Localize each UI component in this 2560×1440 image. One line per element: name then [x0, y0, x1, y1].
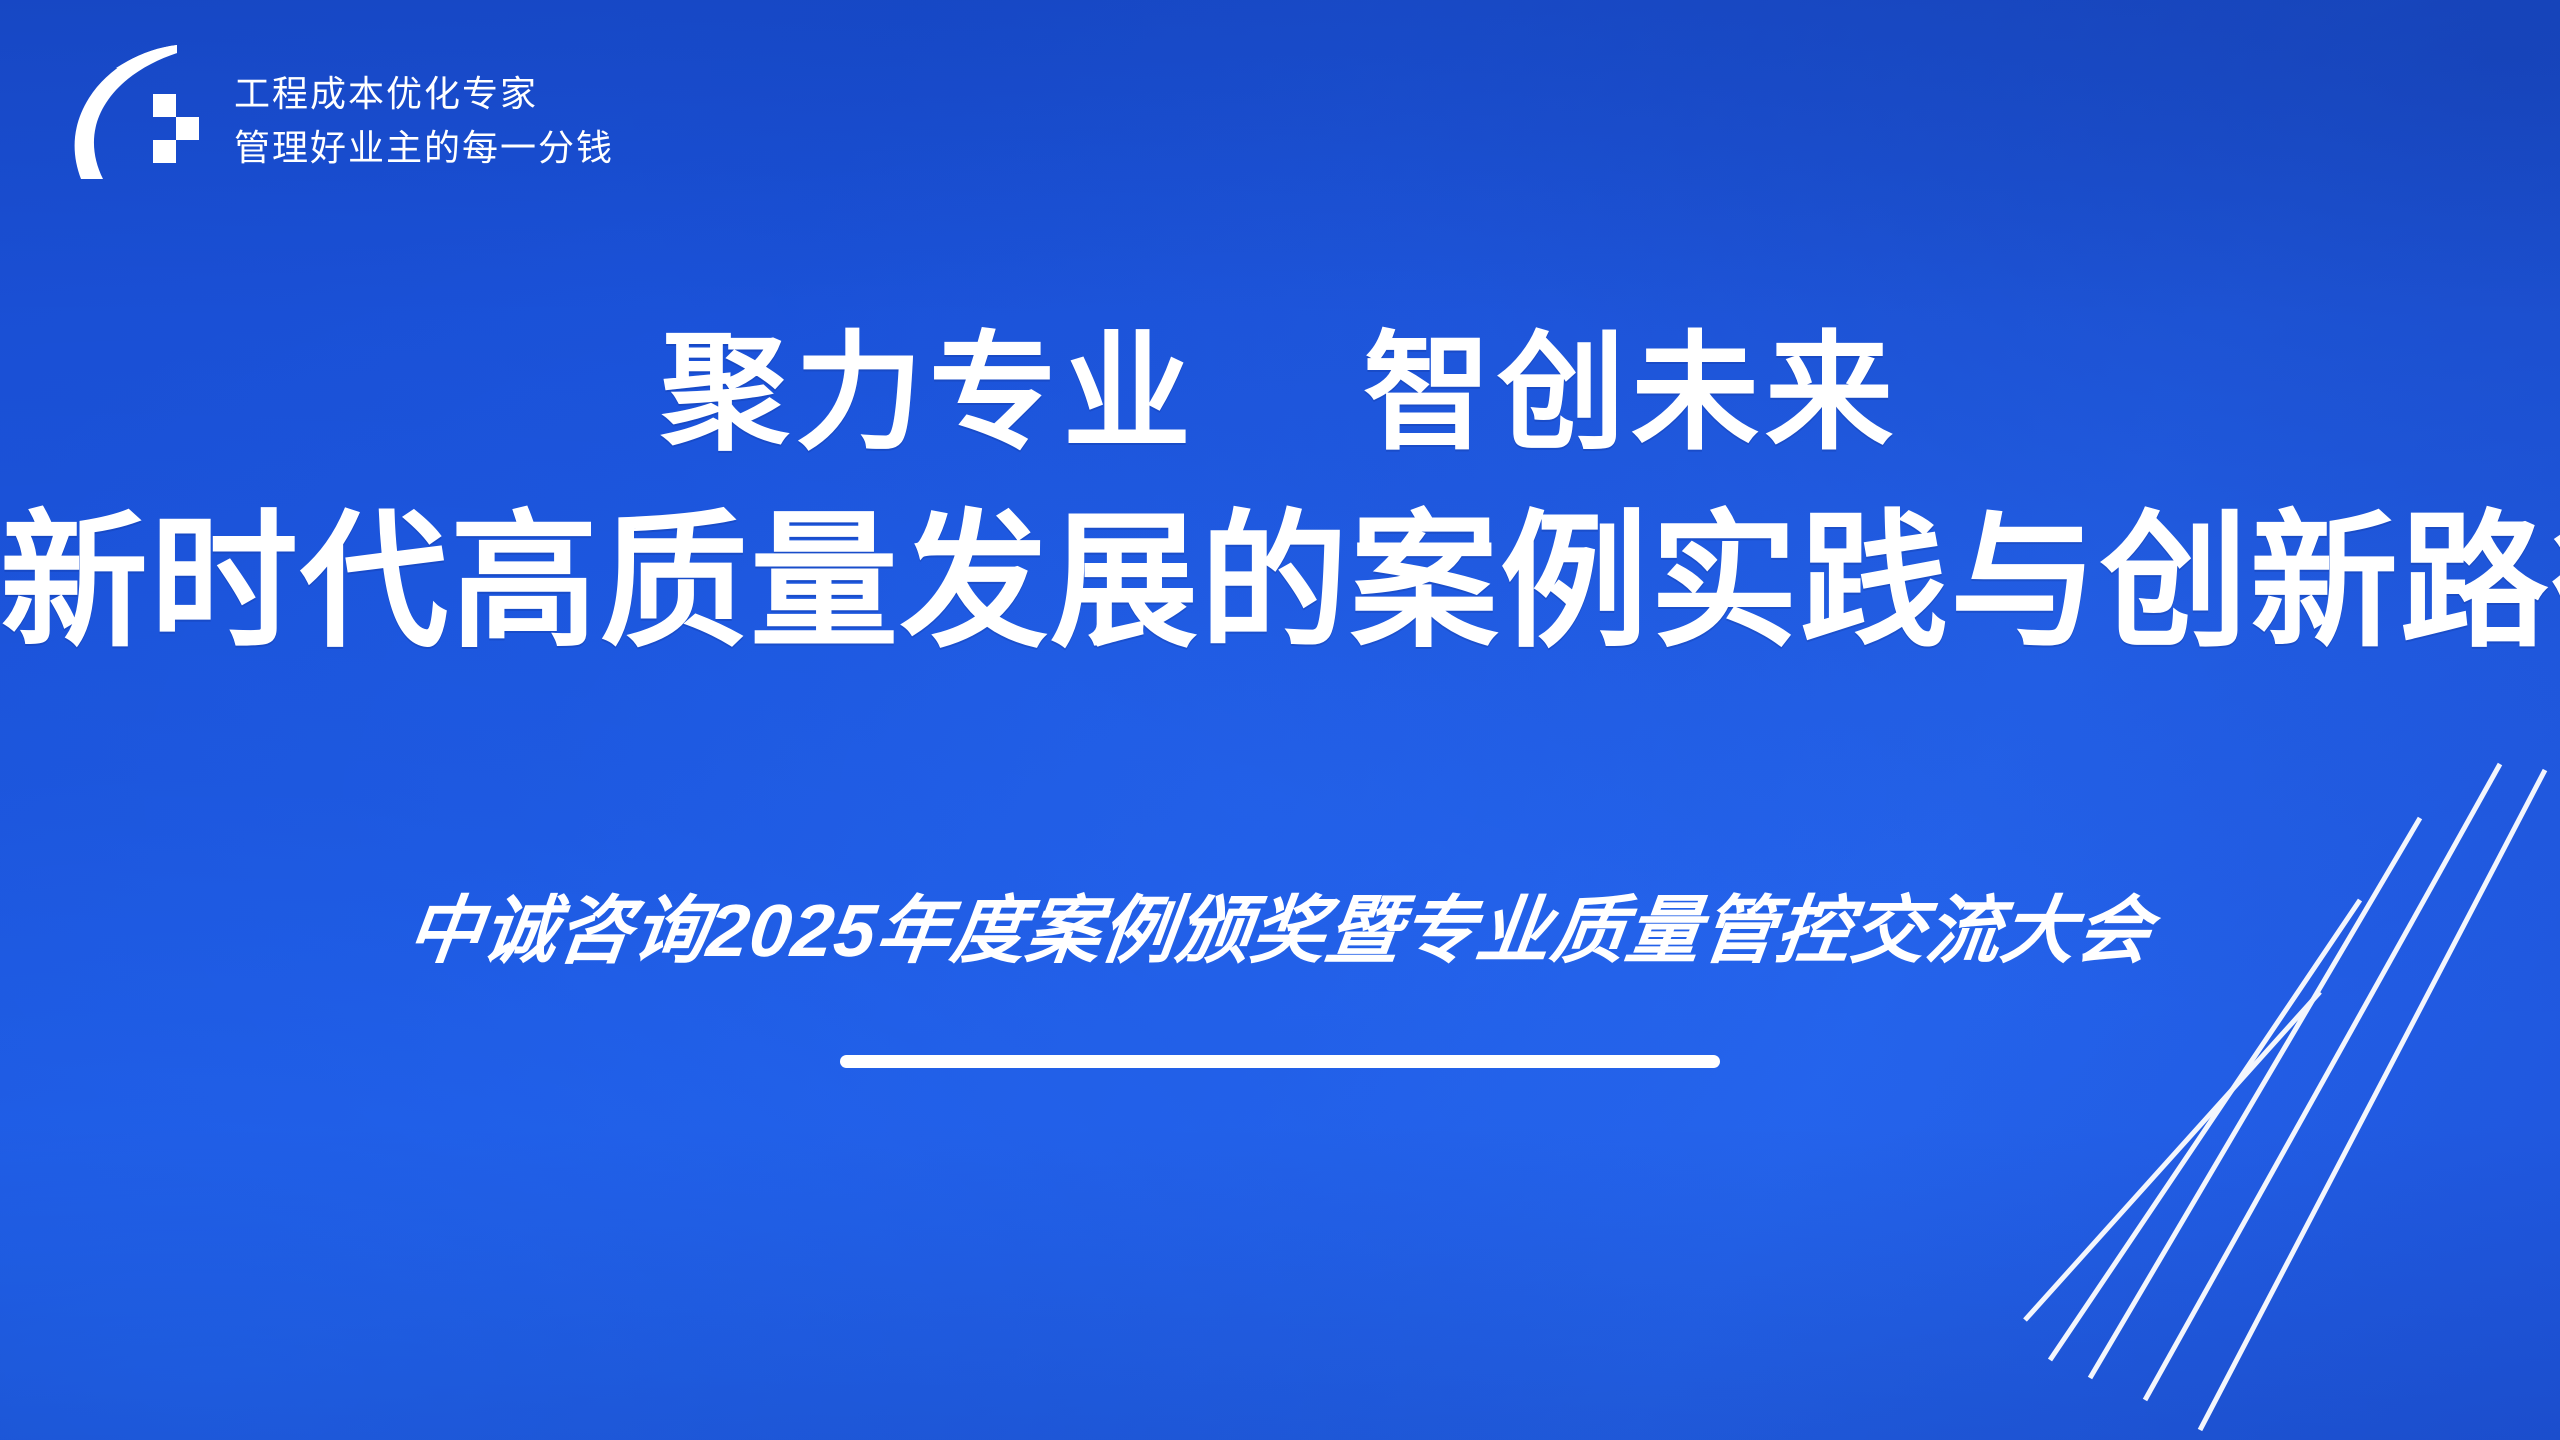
subtitle-block: 中诚咨询2025年度案例颁奖暨专业质量管控交流大会	[0, 890, 2560, 971]
brand-logo-block: 工程成本优化专家 管理好业主的每一分钱	[46, 22, 614, 182]
headline-line-2: 新时代高质量发展的案例实践与创新路径	[0, 496, 2560, 671]
headline-line-1: 聚力专业 智创未来	[0, 320, 2560, 468]
brand-tagline: 工程成本优化专家 管理好业主的每一分钱	[234, 37, 614, 167]
event-subtitle: 中诚咨询2025年度案例颁奖暨专业质量管控交流大会	[403, 890, 2157, 971]
crescent-c-logo-icon	[46, 22, 216, 182]
tagline-line-2: 管理好业主的每一分钱	[234, 129, 614, 167]
divider-row	[0, 1055, 2560, 1068]
background-vignette	[0, 0, 2560, 1440]
title-slide: 工程成本优化专家 管理好业主的每一分钱 聚力专业 智创未来 新时代高质量发展的案…	[0, 0, 2560, 1440]
tagline-line-1: 工程成本优化专家	[234, 75, 614, 113]
white-rule	[840, 1055, 1720, 1068]
headline-block: 聚力专业 智创未来 新时代高质量发展的案例实践与创新路径	[0, 320, 2560, 671]
